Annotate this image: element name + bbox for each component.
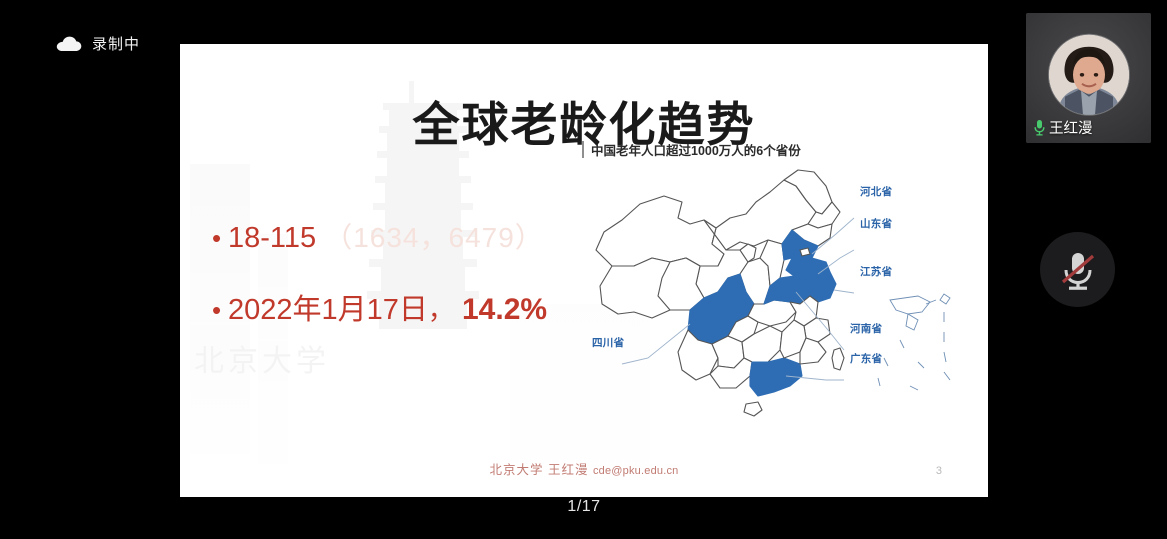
bullet-separator: ，	[428, 295, 454, 325]
recording-label: 录制中	[92, 33, 140, 54]
page-counter: 1/17	[180, 498, 988, 516]
map-caption-text: 中国老年人口超过1000万人的6个省份	[591, 140, 801, 159]
slide-bullet-list: • 18-115 （1634，6479） • 2022年1月17日， 14.2%	[212, 222, 592, 366]
map-label-guangdong: 广东省	[850, 351, 882, 366]
list-item: • 18-115 （1634，6479）	[212, 222, 592, 255]
map-label-henan: 河南省	[850, 321, 882, 336]
bullet-text: 2022年1月17日， 14.2%	[228, 293, 547, 328]
slide-footer: 北京大学 王红漫 cde@pku.edu.cn	[180, 459, 988, 479]
bullet-main-text: 18-115	[228, 222, 316, 254]
map-label-jiangsu: 江苏省	[860, 264, 892, 279]
microphone-muted-icon	[1058, 248, 1098, 292]
bullet-main-text: 2022年1月17日	[228, 294, 428, 326]
map-caption: 中国老年人口超过1000万人的6个省份	[582, 140, 801, 159]
bullet-text: 18-115 （1634，6479）	[228, 222, 544, 255]
slide-footer-email: cde@pku.edu.cn	[593, 465, 679, 477]
china-map-svg	[578, 162, 968, 430]
slide-page-number: 3	[936, 465, 942, 477]
map-label-hebei: 河北省	[860, 184, 892, 199]
slide-footer-affiliation: 北京大学 王红漫	[490, 463, 589, 477]
participant-name: 王红漫	[1049, 117, 1093, 138]
mute-toggle-button[interactable]	[1040, 232, 1115, 307]
avatar	[1049, 35, 1129, 115]
map-label-sichuan: 四川省	[592, 335, 624, 350]
map-label-shandong: 山东省	[860, 216, 892, 231]
shared-slide[interactable]: 北京大学 全球老龄化趋势 • 18-115 （1634，6479） • 2022…	[180, 44, 988, 497]
bullet-marker: •	[212, 297, 228, 323]
china-map-figure: 中国老年人口超过1000万人的6个省份	[578, 140, 968, 440]
participant-video-tile[interactable]: 王红漫	[1026, 13, 1151, 143]
microphone-icon	[1033, 119, 1046, 136]
recording-indicator: 录制中	[56, 33, 140, 54]
cloud-icon	[56, 36, 82, 52]
bullet-marker: •	[212, 225, 228, 251]
list-item: • 2022年1月17日， 14.2%	[212, 293, 592, 328]
caption-rule	[582, 141, 584, 158]
meeting-window: 录制中	[0, 0, 1167, 539]
bullet-faded-text: （1634，6479）	[324, 222, 544, 253]
participant-name-badge: 王红漫	[1033, 117, 1093, 138]
bullet-emphasis-text: 14.2%	[462, 293, 547, 326]
